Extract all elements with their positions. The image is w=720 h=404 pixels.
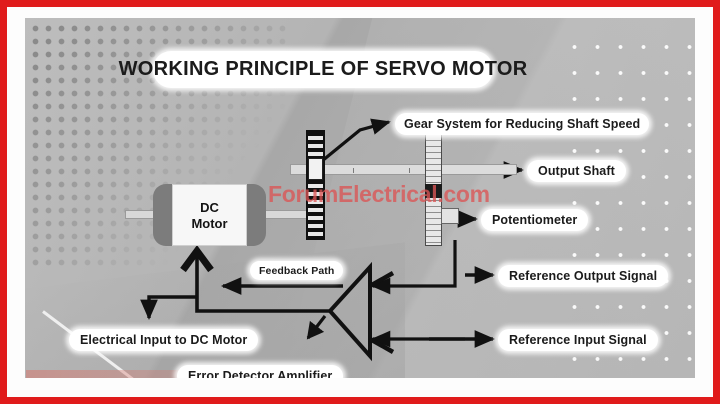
amplifier-input-whisker-bottom xyxy=(370,339,393,352)
label-feedback-path: Feedback Path xyxy=(250,261,343,280)
motor-body: DC Motor xyxy=(172,184,247,246)
page-title: WORKING PRINCIPLE OF SERVO MOTOR xyxy=(153,51,493,88)
label-reference-input-signal: Reference Input Signal xyxy=(498,329,658,351)
amplifier-input-whisker-top xyxy=(370,273,393,286)
driven-gear-dark-band xyxy=(425,184,442,198)
amplifier-label-arrow xyxy=(308,316,325,338)
label-electrical-input: Electrical Input to DC Motor xyxy=(69,329,258,351)
drive-gear-dark xyxy=(306,130,325,240)
drive-gear-hub xyxy=(308,158,323,180)
servo-motor-diagram-image: DC Motor ForumElectrical.com WORKING PRI… xyxy=(0,0,720,404)
electrical-input-branch-arrow xyxy=(149,297,197,318)
label-potentiometer: Potentiometer xyxy=(481,209,588,231)
diagram-canvas: DC Motor ForumElectrical.com WORKING PRI… xyxy=(25,18,695,378)
dc-motor-block: DC Motor xyxy=(153,184,266,246)
label-output-shaft: Output Shaft xyxy=(527,160,626,182)
label-reference-output-signal: Reference Output Signal xyxy=(498,265,668,287)
label-gear-system: Gear System for Reducing Shaft Speed xyxy=(395,113,649,135)
gear-callout-arrow xyxy=(322,122,389,161)
error-detector-amplifier-triangle xyxy=(330,267,370,356)
shaft-tick xyxy=(353,168,354,173)
motor-label-line1: DC xyxy=(200,201,219,214)
label-error-detector-amplifier: Error Detector Amplifier xyxy=(177,365,343,378)
potentiometer-body xyxy=(441,208,459,224)
motor-label-line2: Motor xyxy=(191,217,227,230)
shaft-tick xyxy=(409,168,410,173)
